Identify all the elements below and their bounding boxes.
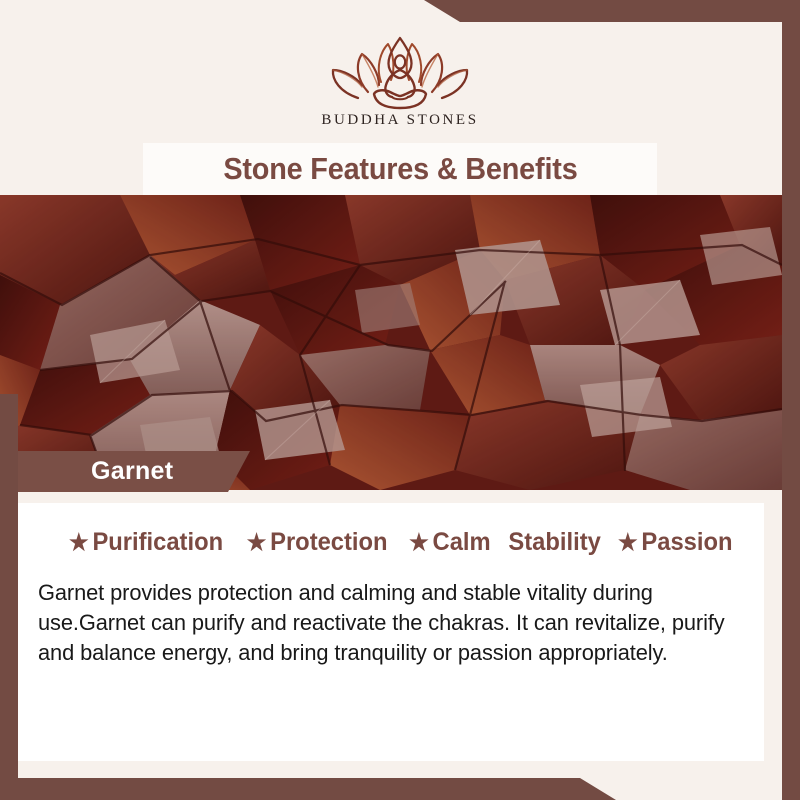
bottom-decorative-band: [0, 778, 800, 800]
benefit-item-calm: ★ Calm: [409, 528, 490, 557]
benefit-label: Calm: [432, 528, 490, 557]
stone-name-banner: Garnet: [18, 451, 250, 492]
left-decorative-border: [0, 394, 18, 800]
top-decorative-band: [0, 0, 800, 22]
page-title-plate: Stone Features & Benefits: [143, 143, 657, 195]
benefit-item-protection: ★ Protection: [246, 528, 387, 557]
benefit-item-purification: ★ Purification: [69, 528, 223, 557]
star-icon: ★: [409, 531, 429, 554]
right-decorative-border: [782, 0, 800, 800]
brand-wordmark: BUDDHA STONES: [321, 112, 478, 129]
benefit-label: Passion: [641, 528, 732, 557]
benefit-label: Protection: [270, 528, 387, 557]
stone-description: Garnet provides protection and calming a…: [38, 578, 733, 668]
star-icon: ★: [618, 531, 638, 554]
garnet-stone-photo: [0, 195, 782, 490]
stone-name: Garnet: [91, 457, 173, 486]
benefit-item-stability: Stability: [508, 528, 600, 557]
product-infographic-poster: BUDDHA STONES Stone Features & Benefits: [0, 0, 800, 800]
page-title: Stone Features & Benefits: [223, 151, 577, 187]
brand-header: BUDDHA STONES: [18, 22, 782, 142]
benefits-list: ★ Purification ★ Protection ★ Calm Stabi…: [18, 528, 782, 557]
benefit-label: Purification: [92, 528, 223, 557]
benefit-item-passion: ★ Passion: [618, 528, 732, 557]
benefit-label: Stability: [508, 528, 600, 557]
lotus-meditation-icon: [324, 32, 476, 110]
star-icon: ★: [246, 531, 266, 554]
star-icon: ★: [69, 531, 89, 554]
